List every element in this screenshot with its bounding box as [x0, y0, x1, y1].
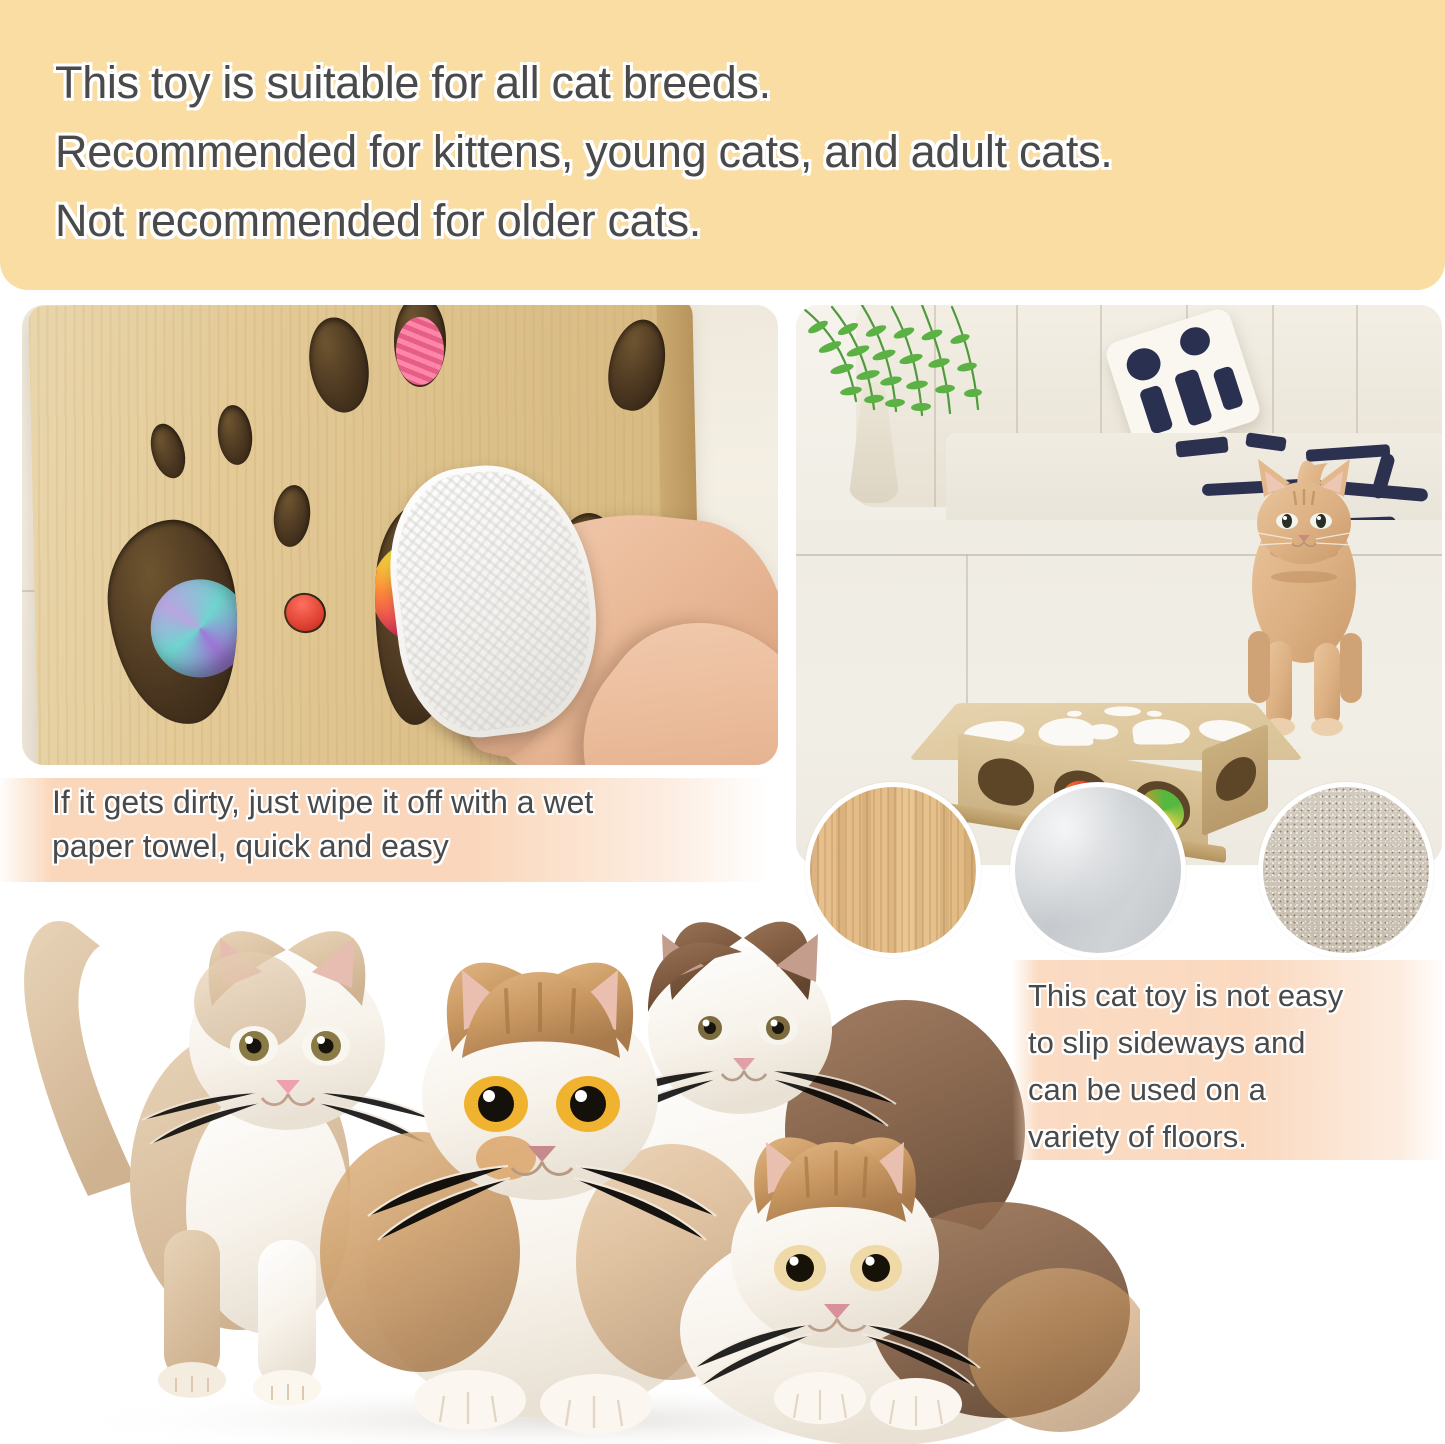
header-line-2: Recommended for kittens, young cats, and… [55, 117, 1395, 186]
cats-group-photo [0, 880, 1140, 1444]
toy-ball-purple-teal [146, 574, 248, 682]
floors-caption-text: This cat toy is not easy to slip sideway… [1028, 972, 1445, 1160]
four-cats-illustration [0, 880, 1140, 1444]
header-line-3: Not recommended for older cats. [55, 186, 1395, 255]
cleaning-caption-line-2: paper towel, quick and easy [52, 824, 772, 868]
floors-caption-line-4: variety of floors. [1028, 1113, 1445, 1160]
header-banner: This toy is suitable for all cat breeds.… [0, 0, 1445, 290]
living-room-photo [796, 305, 1442, 865]
floors-caption-line-3: can be used on a [1028, 1066, 1445, 1113]
toy-box-side-panel [1202, 724, 1268, 837]
carpet-floor-swatch [1258, 782, 1434, 958]
product-infographic-page: This toy is suitable for all cat breeds.… [0, 0, 1445, 1444]
floors-caption-line-2: to slip sideways and [1028, 1019, 1445, 1066]
toy-ball-pink-stripe [396, 317, 444, 385]
cleaning-photo [22, 305, 778, 765]
cleaning-caption-line-1: If it gets dirty, just wipe it off with … [52, 780, 772, 824]
cleaning-caption-text: If it gets dirty, just wipe it off with … [52, 780, 772, 868]
header-text-block: This toy is suitable for all cat breeds.… [55, 48, 1395, 255]
floors-caption-line-1: This cat toy is not easy [1028, 972, 1445, 1019]
header-line-1: This toy is suitable for all cat breeds. [55, 48, 1395, 117]
